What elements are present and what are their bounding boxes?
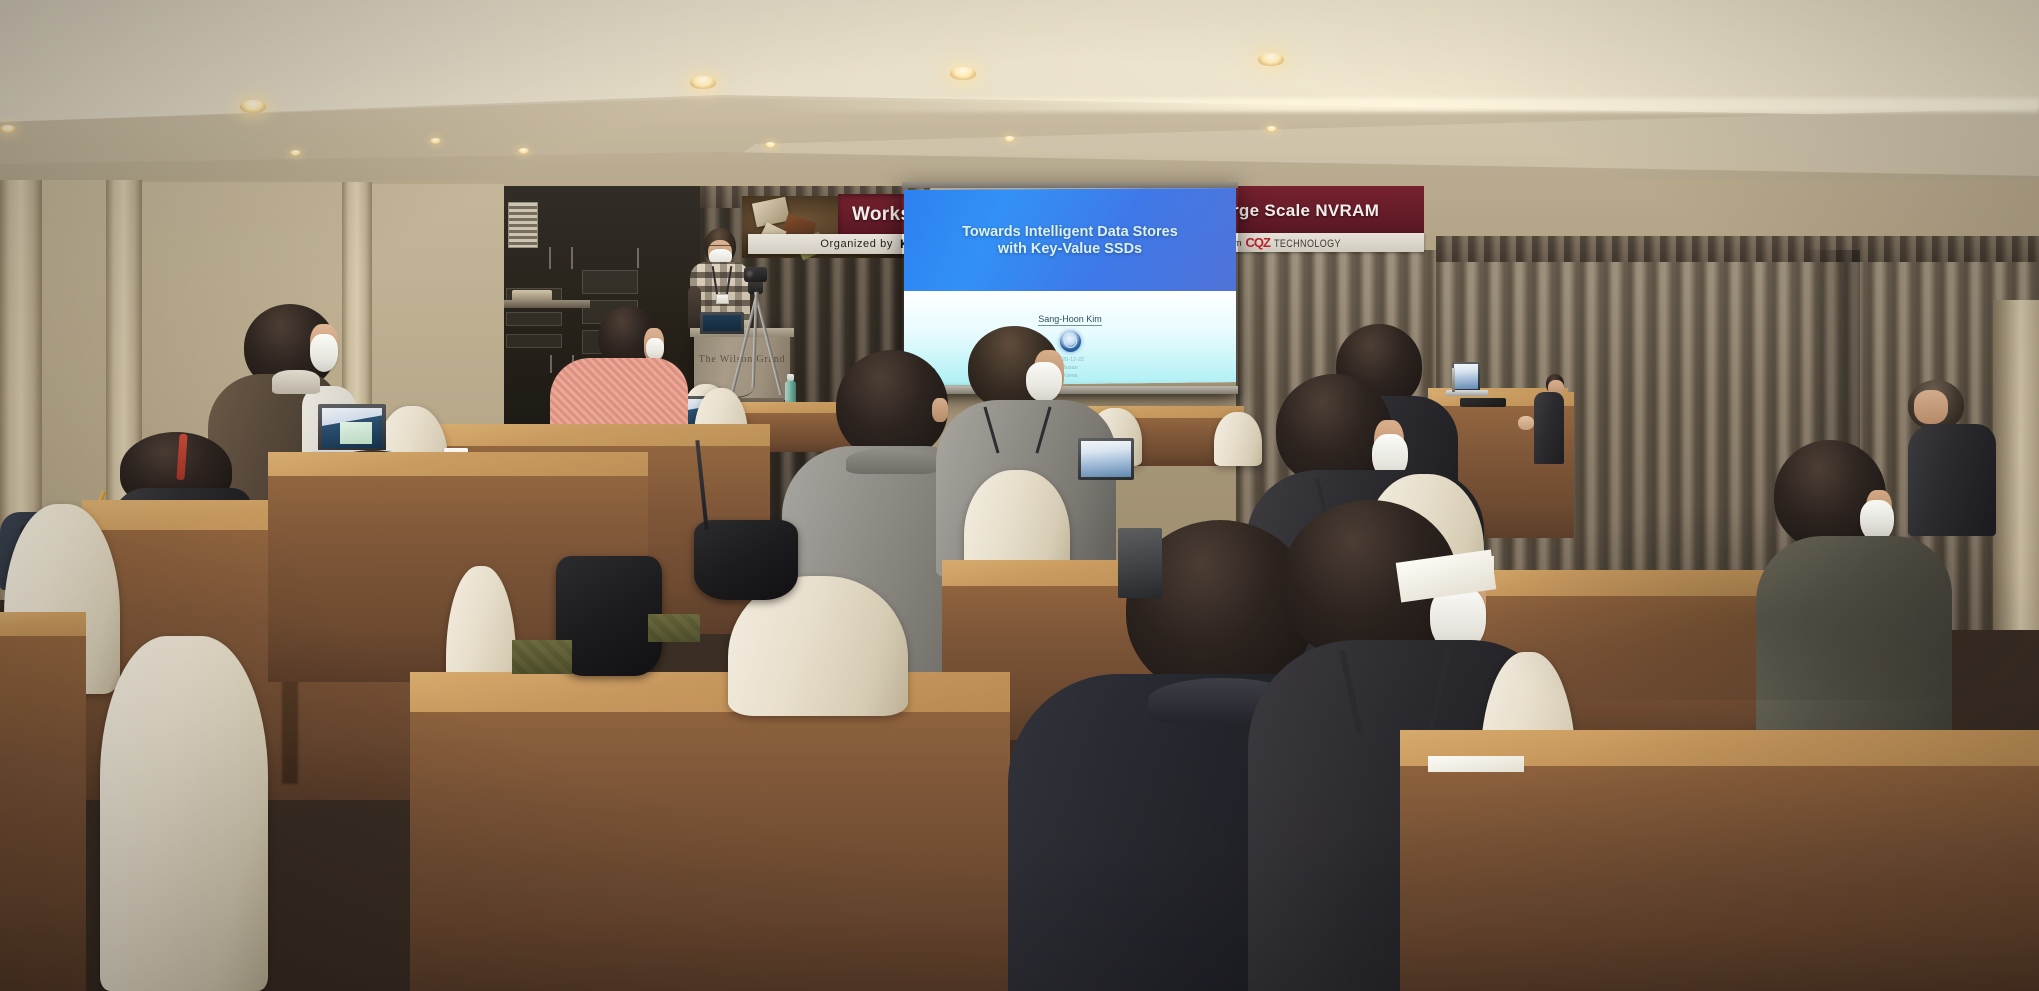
hand (1518, 416, 1534, 430)
face-mask (646, 338, 664, 360)
cabinet-items (512, 290, 552, 301)
camera-lens-icon (746, 270, 755, 279)
recessed-ceiling-light (1258, 53, 1284, 66)
laptop-display (1081, 441, 1131, 477)
cabinet-panel (582, 270, 638, 294)
sponsor-logo-text: TECHNOLOGY (1274, 236, 1341, 249)
draped-banquet-table (410, 672, 1010, 991)
laptop-computer (1118, 528, 1162, 598)
banquet-chair (100, 636, 268, 991)
recessed-ceiling-light (290, 150, 301, 156)
recessed-ceiling-light (240, 100, 266, 113)
laptop-lid (1118, 528, 1162, 598)
recessed-ceiling-light (1266, 126, 1277, 132)
carpet-floor (512, 640, 572, 674)
table-drape-front (0, 636, 86, 991)
recessed-ceiling-light (690, 76, 716, 89)
slide-title-line-2: with Key-Value SSDs (904, 241, 1236, 258)
table-top (440, 424, 770, 446)
sponsor-logo-mark: CQZ (1246, 235, 1270, 250)
recessed-ceiling-light (518, 148, 529, 154)
recessed-ceiling-light (0, 125, 16, 133)
recessed-ceiling-light (430, 138, 441, 144)
face-mask (310, 334, 338, 372)
sponsor-strip: m CQZ TECHNOLOGY (1228, 233, 1424, 252)
face-mask (1026, 362, 1062, 402)
conference-room-photo: Worksho Organized by KIIS rge Scale NVRA… (0, 0, 2039, 991)
cabinet-handle (637, 248, 639, 268)
papers-on-table (1428, 756, 1524, 772)
podium-laptop-lid (700, 312, 744, 334)
carpet-floor (648, 614, 700, 642)
table-top (410, 672, 1010, 712)
recessed-ceiling-light (1004, 136, 1015, 142)
floor-shadow (1480, 500, 2039, 700)
video-camera (744, 267, 767, 282)
torso (1534, 392, 1564, 464)
collar (846, 448, 938, 474)
slide-title-line-1: Towards Intelligent Data Stores (904, 224, 1236, 241)
recessed-ceiling-light (765, 142, 776, 148)
cove-light-strip (760, 98, 2039, 112)
face (1914, 390, 1948, 424)
slide-author-name: Sang-Hoon Kim (1038, 314, 1102, 326)
table-drape-front (1400, 766, 2039, 991)
table-drape-front (410, 712, 1010, 991)
curtain-valance (1436, 236, 2039, 262)
organized-by-label: Organized by (820, 238, 893, 250)
slide-title: Towards Intelligent Data Stores with Key… (904, 224, 1236, 258)
shoulder-bag (694, 520, 798, 600)
podium-laptop-screen (703, 315, 741, 331)
recessed-ceiling-light (950, 67, 976, 80)
air-vent (508, 202, 538, 248)
draped-banquet-table (0, 612, 86, 991)
presenter-badge (716, 294, 729, 304)
cabinet-handle (549, 247, 551, 269)
shirt-collar (272, 370, 320, 394)
cabinet-handle (571, 247, 573, 269)
laptop-computer (1078, 438, 1134, 480)
banner-title-right: rge Scale NVRAM (1232, 201, 1379, 221)
table-top (268, 452, 648, 476)
table-top (0, 612, 86, 636)
screen-top-roller (902, 182, 1238, 188)
